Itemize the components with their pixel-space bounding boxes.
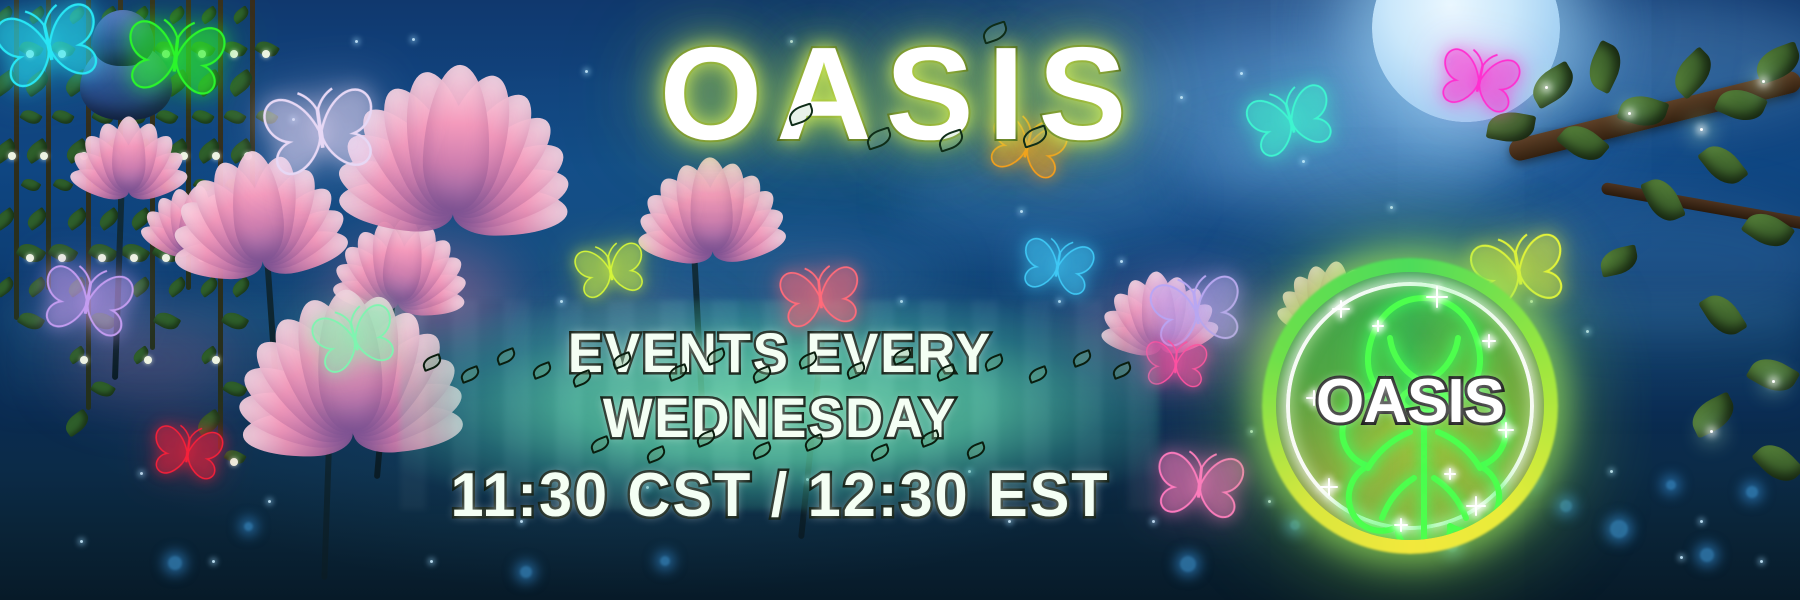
water-orb	[1700, 548, 1714, 562]
leaf-icon	[125, 176, 146, 194]
lotus-petal	[174, 240, 263, 280]
leaf-icon	[47, 239, 78, 267]
lotus-petal	[150, 192, 202, 257]
leaf-icon	[24, 207, 50, 231]
lotus-petal	[241, 326, 371, 452]
lotus-petal	[200, 154, 284, 270]
leaf-icon	[223, 447, 246, 468]
leaf-icon	[1746, 351, 1800, 400]
water-orb	[1746, 486, 1758, 498]
lotus-flower	[190, 250, 191, 251]
leaf-icon	[864, 126, 894, 150]
water-orb	[1560, 500, 1572, 512]
lotus-petal	[165, 186, 204, 253]
lotus-petal	[282, 292, 382, 440]
leaf-icon	[64, 207, 90, 231]
leaf-icon	[21, 176, 42, 194]
leaf-icon	[128, 207, 154, 231]
lotus-petal	[181, 168, 280, 275]
lotus-petal	[171, 189, 275, 279]
leaf-icon	[1686, 391, 1740, 438]
lotus-petal	[693, 159, 754, 256]
leaf-icon	[67, 345, 88, 364]
vine-flower	[262, 254, 270, 262]
firefly-dot	[1680, 556, 1683, 559]
lotus-petal	[1152, 296, 1220, 357]
leaf-icon	[89, 308, 118, 333]
leaf-icon	[157, 176, 178, 194]
vine-flower	[162, 254, 170, 262]
lotus-petal	[688, 157, 733, 252]
lotus-petal	[446, 157, 575, 236]
butterfly-lime-icon	[568, 234, 651, 302]
leaf-icon	[219, 239, 250, 267]
firefly-dot	[1120, 260, 1123, 263]
oasis-logo-badge[interactable]: OASIS	[1262, 258, 1558, 554]
lotus-petal	[636, 225, 715, 267]
leaf-icon	[936, 128, 966, 152]
leaf-icon	[153, 308, 182, 333]
firefly-dot	[1700, 520, 1703, 523]
leaf-icon	[90, 377, 116, 400]
leaf-icon	[167, 5, 188, 24]
lotus-flower	[262, 260, 263, 261]
lotus-petal	[366, 218, 417, 304]
water-orb	[168, 556, 182, 570]
firefly-dot	[1390, 206, 1393, 209]
vine-flower	[130, 254, 138, 262]
leaf-icon	[0, 5, 15, 24]
leaf-icon	[99, 5, 120, 24]
banner-title-wrap: OASIS	[0, 28, 1800, 160]
vine-flower	[26, 254, 34, 262]
leaf-icon	[193, 176, 214, 194]
leaf-icon	[53, 176, 74, 194]
sparkle-star	[1710, 430, 1713, 433]
leaf-icon	[17, 308, 46, 333]
leaf-icon	[65, 276, 88, 298]
tree-branch	[1601, 182, 1800, 230]
leaf-icon	[251, 239, 282, 267]
leaf-icon	[1640, 173, 1686, 227]
bokeh-glow	[60, 320, 240, 400]
leaf-icon	[1598, 244, 1641, 277]
leaf-icon	[231, 5, 252, 24]
lotus-petal	[243, 161, 329, 272]
leaf-icon	[222, 377, 248, 400]
water-orb	[520, 566, 532, 578]
leaf-icon	[1020, 124, 1050, 148]
leaf-icon	[0, 207, 18, 231]
butterfly-rose-icon	[1150, 442, 1251, 522]
lotus-petal	[181, 199, 242, 260]
leaf-icon	[67, 5, 88, 24]
lotus-petal	[247, 176, 344, 275]
event-headline: EVENTS EVERY WEDNESDAY	[423, 320, 1137, 450]
lotus-petal	[382, 220, 446, 308]
firefly-dot	[268, 500, 271, 503]
leaf-icon	[96, 207, 122, 231]
leaf-icon	[1698, 288, 1748, 343]
vine-flower	[230, 458, 238, 466]
lotus-petal	[67, 163, 132, 204]
leaf-icon	[25, 276, 48, 298]
lotus-petal	[705, 199, 790, 266]
lotus-petal	[380, 215, 426, 302]
leaf-icon	[786, 102, 816, 126]
lotus-petal	[178, 188, 231, 257]
leaf-icon	[199, 5, 220, 24]
leaf-icon	[193, 409, 224, 438]
vine-flower	[80, 356, 88, 364]
event-schedule: 11:30 CST / 12:30 EST	[415, 460, 1145, 531]
lotus-petal	[189, 233, 245, 262]
water-orb	[1610, 520, 1628, 538]
vine-flower	[58, 254, 66, 262]
lotus-petal	[169, 213, 269, 279]
lotus-petal	[125, 163, 190, 204]
lotus-petal	[234, 352, 365, 454]
lotus-petal	[638, 184, 724, 265]
lotus-petal	[253, 198, 353, 279]
firefly-dot	[1250, 430, 1253, 433]
leaf-icon	[164, 207, 190, 231]
lotus-petal	[331, 274, 401, 314]
lotus-flower	[452, 210, 453, 211]
lotus-petal	[185, 215, 247, 262]
firefly-dot	[1586, 330, 1589, 333]
butterfly-mint-icon	[303, 293, 405, 379]
water-orb	[244, 522, 253, 531]
lotus-petal	[226, 149, 287, 264]
leaf-icon	[229, 276, 252, 298]
sparkle-star	[1772, 380, 1775, 383]
lotus-petal	[1156, 314, 1222, 358]
leaf-icon	[199, 345, 220, 364]
water-orb	[660, 556, 670, 566]
lotus-stem	[112, 150, 126, 380]
leaf-icon	[221, 308, 250, 333]
firefly-dot	[80, 540, 83, 543]
lotus-petal	[335, 238, 410, 313]
leaf-icon	[228, 207, 254, 231]
butterfly-red-icon	[147, 417, 229, 483]
lotus-petal	[239, 153, 305, 266]
leaf-icon	[87, 239, 118, 267]
lotus-petal	[649, 169, 729, 262]
lotus-petal	[257, 305, 377, 447]
leaf-icon	[225, 176, 246, 194]
lotus-petal	[709, 220, 789, 267]
lotus-petal	[258, 222, 352, 279]
firefly-dot	[212, 560, 215, 563]
vine-flower	[212, 356, 220, 364]
lotus-petal	[696, 167, 772, 261]
event-info-block: EVENTS EVERY WEDNESDAY 11:30 CST / 12:30…	[400, 320, 1160, 531]
lotus-stem	[321, 330, 336, 580]
lotus-petal	[140, 204, 199, 260]
leaf-icon	[15, 239, 46, 267]
lotus-petal	[235, 381, 359, 455]
lotus-flower	[1160, 345, 1161, 346]
lotus-petal	[634, 203, 720, 266]
lotus-petal	[452, 187, 567, 237]
lotus-stem	[258, 170, 282, 430]
oasis-event-banner: OASIS EVENTS EVERY WEDNESDAY 11:30 CST /…	[0, 0, 1800, 600]
lotus-petal	[330, 255, 406, 314]
lotus-flower	[128, 190, 129, 191]
lotus-petal	[666, 159, 732, 257]
vine-flower	[230, 254, 238, 262]
butterfly-sky-icon	[1015, 229, 1101, 299]
leaf-icon	[119, 239, 150, 267]
leaf-icon	[131, 345, 152, 364]
leaf-icon	[257, 176, 278, 194]
lotus-petal	[242, 408, 354, 459]
lotus-petal	[313, 288, 384, 433]
vine-flower	[144, 356, 152, 364]
leaf-icon	[129, 276, 152, 298]
lotus-petal	[336, 176, 455, 236]
firefly-dot	[1302, 160, 1305, 163]
lotus-flower	[712, 250, 713, 251]
firefly-dot	[430, 560, 433, 563]
leaf-icon	[0, 276, 17, 298]
leaf-icon	[93, 176, 114, 194]
water-orb	[1180, 556, 1196, 572]
lotus-flower	[398, 300, 399, 301]
lotus-flower	[352, 430, 353, 431]
butterfly-violet-icon	[34, 254, 141, 342]
leaf-icon	[197, 276, 220, 298]
lotus-petal	[176, 183, 215, 252]
leaf-icon	[980, 20, 1010, 44]
leaf-icon	[61, 409, 92, 438]
vine-flower	[98, 254, 106, 262]
leaf-icon	[1751, 436, 1800, 490]
leaf-icon	[27, 5, 48, 24]
leaf-icon	[151, 239, 182, 267]
water-orb	[1666, 480, 1676, 490]
page-title: OASIS	[660, 28, 1141, 160]
vine-flower	[198, 254, 206, 262]
firefly-dot	[1020, 210, 1023, 213]
lotus-petal	[347, 225, 413, 309]
leaf-icon	[1741, 205, 1796, 256]
lotus-petal	[700, 181, 784, 264]
firefly-dot	[1610, 470, 1613, 473]
firefly-dot	[1760, 560, 1763, 563]
leaf-icon	[196, 207, 222, 231]
leaf-icon	[187, 239, 218, 267]
lotus-petal	[137, 219, 195, 261]
badge-label: OASIS	[1262, 366, 1558, 437]
leaf-icon	[131, 5, 152, 24]
firefly-dot	[140, 472, 143, 475]
lotus-petal	[323, 291, 411, 437]
leaf-icon	[165, 276, 188, 298]
